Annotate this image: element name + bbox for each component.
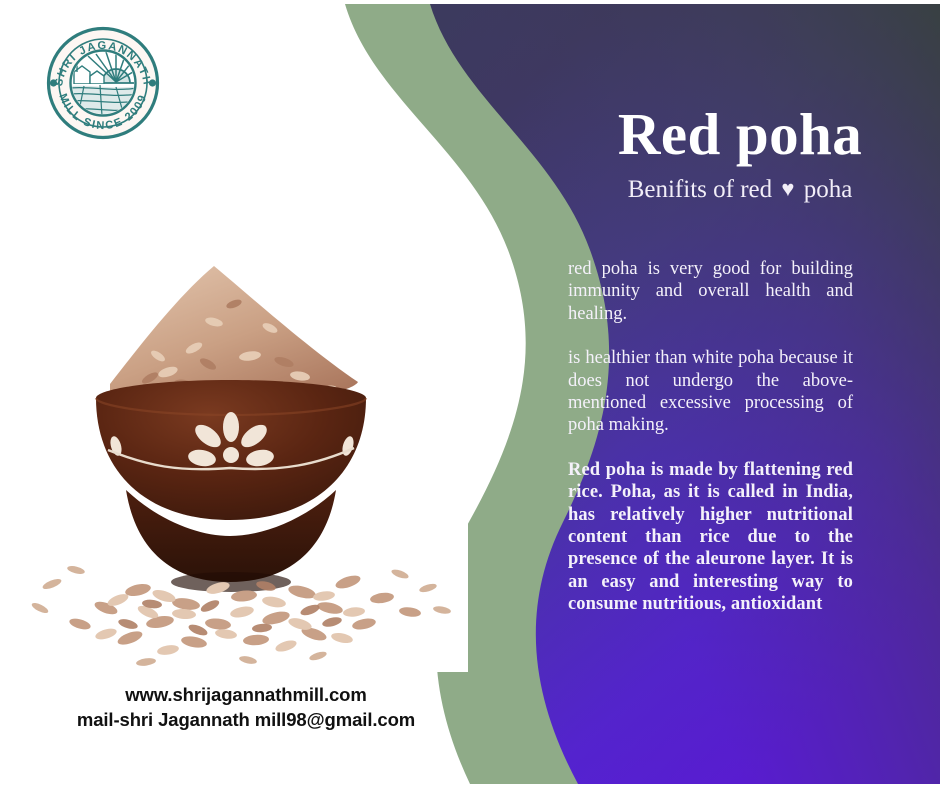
heart-icon: ♥ <box>778 176 797 201</box>
poha-bowl-illustration <box>18 252 468 672</box>
paragraph-benefit-immunity: red poha is very good for building immun… <box>568 258 853 325</box>
paragraph-benefit-healthier: is healthier than white poha because it … <box>568 347 853 437</box>
paragraph-about-red-poha: Red poha is made by flattening red rice.… <box>568 459 853 616</box>
subtitle-text-before: Benifits of red <box>628 176 772 203</box>
shri-jagannath-mill-logo-icon: SHRI JAGANNATH MILL SINCE 2009 <box>44 24 162 142</box>
page-subtitle: Benifits of red ♥ poha <box>548 176 932 204</box>
poster-canvas: SHRI JAGANNATH MILL SINCE 2009 <box>0 0 940 788</box>
contact-footer: www.shrijagannathmill.com mail-shri Jaga… <box>30 682 462 732</box>
subtitle-text-after: poha <box>804 176 853 203</box>
red-poha-bowl-photo <box>18 252 468 672</box>
content-panel: Red poha Benifits of red ♥ poha red poha… <box>540 0 940 788</box>
body-copy: red poha is very good for building immun… <box>568 258 853 616</box>
page-title: Red poha <box>548 104 932 164</box>
footer-email[interactable]: mail-shri Jagannath mill98@gmail.com <box>30 707 462 732</box>
brand-logo: SHRI JAGANNATH MILL SINCE 2009 <box>44 24 162 142</box>
footer-website[interactable]: www.shrijagannathmill.com <box>30 682 462 707</box>
